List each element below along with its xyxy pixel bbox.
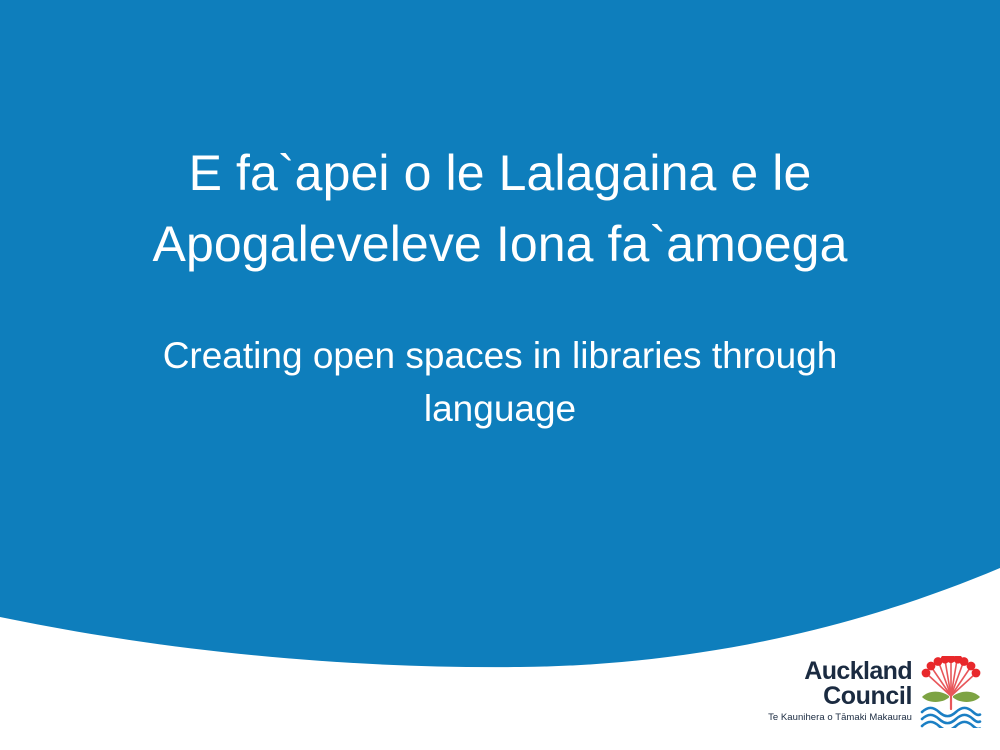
presentation-slide: E fa`apei o le Lalagaina e le Apogalevel… <box>0 0 1000 750</box>
logo-maori-strapline: Te Kaunihera o Tāmaki Makaurau <box>768 708 912 725</box>
pohutukawa-flower-icon <box>920 656 982 728</box>
slide-title-line-1: E fa`apei o le Lalagaina e le <box>70 138 930 209</box>
logo-word-council: Council <box>768 684 912 709</box>
slide-title-line-2: Apogaleveleve Iona fa`amoega <box>70 209 930 280</box>
slide-title: E fa`apei o le Lalagaina e le Apogalevel… <box>70 138 930 280</box>
slide-subtitle-text: Creating open spaces in libraries throug… <box>90 330 910 435</box>
slide-subtitle: Creating open spaces in libraries throug… <box>90 330 910 435</box>
auckland-council-logo: Auckland Council Te Kaunihera o Tāmaki M… <box>768 656 982 728</box>
logo-wordmark: Auckland Council Te Kaunihera o Tāmaki M… <box>768 656 920 725</box>
logo-word-auckland: Auckland <box>768 659 912 684</box>
